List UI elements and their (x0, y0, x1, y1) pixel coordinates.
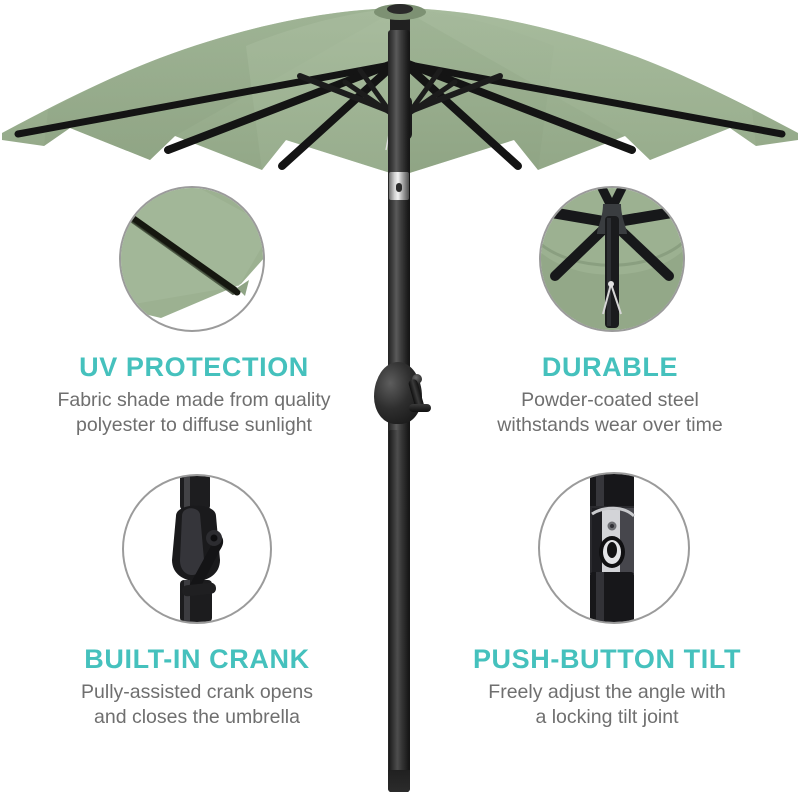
feature-body-line2-durable: withstands wear over time (430, 413, 790, 438)
canopy-fabric-closeup-icon (121, 188, 263, 330)
feature-body-line2-push-button-tilt: a locking tilt joint (424, 705, 790, 730)
feature-durable: DURABLE Powder-coated steel withstands w… (430, 352, 790, 438)
feature-body-line2-built-in-crank: and closes the umbrella (14, 705, 380, 730)
crank-knob (409, 404, 431, 412)
umbrella-pole-lower (389, 430, 409, 792)
pole-foot (388, 770, 410, 792)
callout-circle-built-in-crank (122, 474, 272, 624)
feature-heading-push-button-tilt: PUSH-BUTTON TILT (424, 644, 790, 674)
feature-body-line1-uv-protection: Fabric shade made from quality (8, 388, 380, 413)
feature-built-in-crank: BUILT-IN CRANK Pully-assisted crank open… (14, 644, 380, 730)
feature-body-line1-built-in-crank: Pully-assisted crank opens (14, 680, 380, 705)
feature-uv-protection: UV PROTECTION Fabric shade made from qua… (8, 352, 380, 438)
feature-body-line1-push-button-tilt: Freely adjust the angle with (424, 680, 790, 705)
feature-heading-durable: DURABLE (430, 352, 790, 382)
feature-push-button-tilt: PUSH-BUTTON TILT Freely adjust the angle… (424, 644, 790, 730)
tilt-joint-closeup-icon (540, 474, 688, 622)
callout-circle-push-button-tilt (538, 472, 690, 624)
infographic-canvas: UV PROTECTION Fabric shade made from qua… (0, 0, 800, 800)
crank-handle-closeup-icon (124, 476, 270, 622)
callout-circle-uv-protection (119, 186, 265, 332)
feature-heading-uv-protection: UV PROTECTION (8, 352, 380, 382)
feature-body-line1-durable: Powder-coated steel (430, 388, 790, 413)
tilt-joint (389, 172, 409, 200)
rib-hub-underside-closeup-icon (541, 188, 683, 330)
feature-body-line2-uv-protection: polyester to diffuse sunlight (8, 413, 380, 438)
feature-heading-built-in-crank: BUILT-IN CRANK (14, 644, 380, 674)
callout-circle-durable (539, 186, 685, 332)
